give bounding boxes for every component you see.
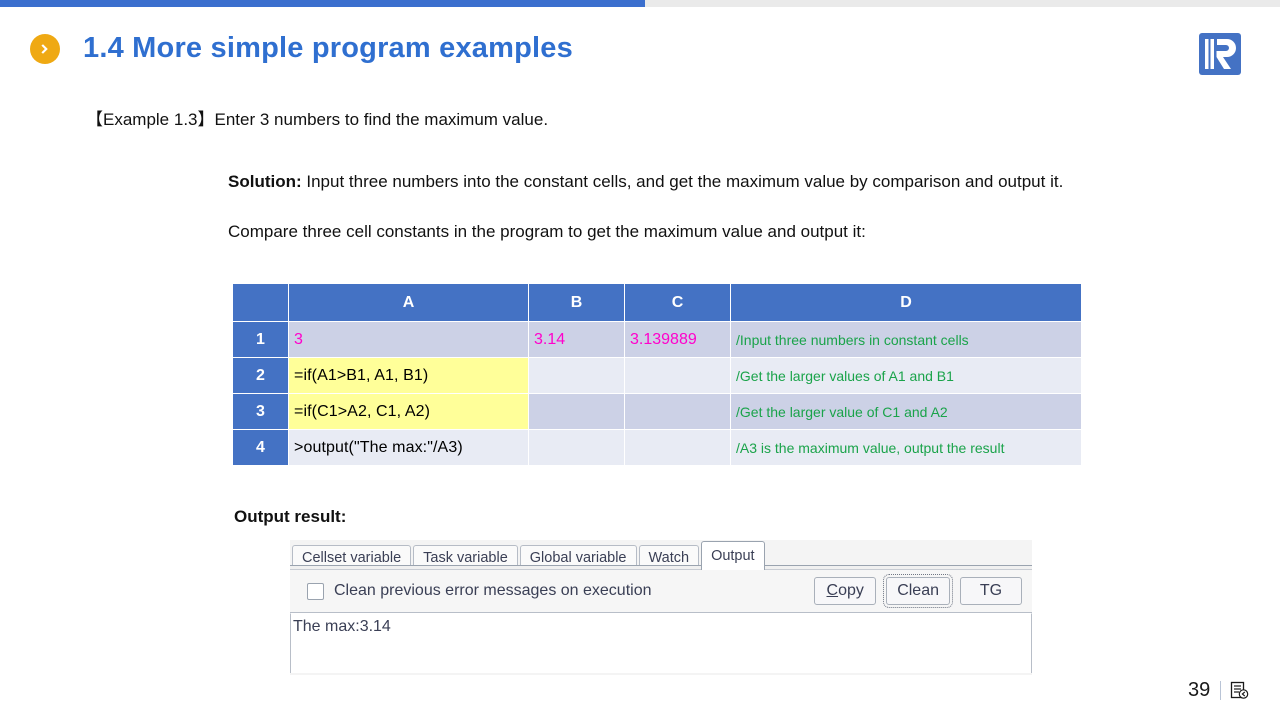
copy-button-label: opy — [838, 582, 864, 600]
cell-d2[interactable]: /Get the larger values of A1 and B1 — [731, 358, 1082, 394]
slide-title-row: 1.4 More simple program examples — [30, 32, 573, 65]
example-caption: 【Example 1.3】Enter 3 numbers to find the… — [86, 105, 548, 130]
cell-a3[interactable]: =if(C1>A2, C1, A2) — [289, 394, 529, 430]
tab-output[interactable]: Output — [701, 541, 765, 570]
top-accent-bar — [0, 0, 1280, 7]
page-number: 39 — [1188, 679, 1210, 702]
cell-c3[interactable] — [625, 394, 731, 430]
output-tab-strip: Cellset variable Task variable Global va… — [290, 540, 1032, 570]
clean-button[interactable]: Clean — [886, 577, 950, 605]
copy-button-mnemonic: C — [827, 582, 839, 600]
clean-previous-errors-checkbox[interactable] — [307, 583, 324, 600]
cell-b2[interactable] — [529, 358, 625, 394]
output-toolbar: Clean previous error messages on executi… — [290, 570, 1032, 613]
row-header-1[interactable]: 1 — [233, 322, 289, 358]
output-button-group: Copy Clean TG — [804, 577, 1022, 605]
row-header-3[interactable]: 3 — [233, 394, 289, 430]
tg-button[interactable]: TG — [960, 577, 1022, 605]
table-row: 1 3 3.14 3.139889 /Input three numbers i… — [233, 322, 1082, 358]
clean-previous-errors-label: Clean previous error messages on executi… — [334, 582, 652, 600]
column-header-d[interactable]: D — [731, 284, 1082, 322]
cell-d1[interactable]: /Input three numbers in constant cells — [731, 322, 1082, 358]
cell-c4[interactable] — [625, 430, 731, 466]
copy-button[interactable]: Copy — [814, 577, 876, 605]
table-row: 3 =if(C1>A2, C1, A2) /Get the larger val… — [233, 394, 1082, 430]
solution-text: Input three numbers into the constant ce… — [302, 172, 1064, 191]
top-accent-bar-progress — [0, 0, 645, 7]
cell-a1[interactable]: 3 — [289, 322, 529, 358]
table-corner-cell[interactable] — [233, 284, 289, 322]
output-text-area[interactable]: The max:3.14 — [290, 613, 1032, 673]
cell-b3[interactable] — [529, 394, 625, 430]
top-accent-bar-track — [645, 0, 1280, 7]
row-header-2[interactable]: 2 — [233, 358, 289, 394]
cell-c1[interactable]: 3.139889 — [625, 322, 731, 358]
cell-a4[interactable]: >output("The max:"/A3) — [289, 430, 529, 466]
cell-b4[interactable] — [529, 430, 625, 466]
compare-paragraph: Compare three cell constants in the prog… — [228, 222, 1118, 242]
cell-b1[interactable]: 3.14 — [529, 322, 625, 358]
output-text-line: The max:3.14 — [293, 618, 1031, 636]
table-header-row: A B C D — [233, 284, 1082, 322]
output-result-label: Output result: — [234, 507, 346, 527]
column-header-c[interactable]: C — [625, 284, 731, 322]
solution-label: Solution: — [228, 172, 302, 191]
book-r-logo-icon — [1197, 31, 1243, 77]
page-title: 1.4 More simple program examples — [83, 32, 573, 65]
footer-divider — [1220, 681, 1221, 700]
table-row: 2 =if(A1>B1, A1, B1) /Get the larger val… — [233, 358, 1082, 394]
table-row: 4 >output("The max:"/A3) /A3 is the maxi… — [233, 430, 1082, 466]
output-panel: Cellset variable Task variable Global va… — [290, 540, 1032, 675]
footer: 39 — [1188, 679, 1249, 702]
cell-a2[interactable]: =if(A1>B1, A1, B1) — [289, 358, 529, 394]
solution-paragraph: Solution: Input three numbers into the c… — [228, 170, 1118, 195]
chevron-right-circle-icon — [30, 34, 60, 64]
column-header-a[interactable]: A — [289, 284, 529, 322]
tab-strip-underline — [290, 565, 1032, 570]
document-back-icon[interactable] — [1230, 681, 1249, 700]
cell-c2[interactable] — [625, 358, 731, 394]
column-header-b[interactable]: B — [529, 284, 625, 322]
row-header-4[interactable]: 4 — [233, 430, 289, 466]
cell-d4[interactable]: /A3 is the maximum value, output the res… — [731, 430, 1082, 466]
cellset-table[interactable]: A B C D 1 3 3.14 3.139889 /Input three n… — [232, 283, 1082, 466]
cell-d3[interactable]: /Get the larger value of C1 and A2 — [731, 394, 1082, 430]
